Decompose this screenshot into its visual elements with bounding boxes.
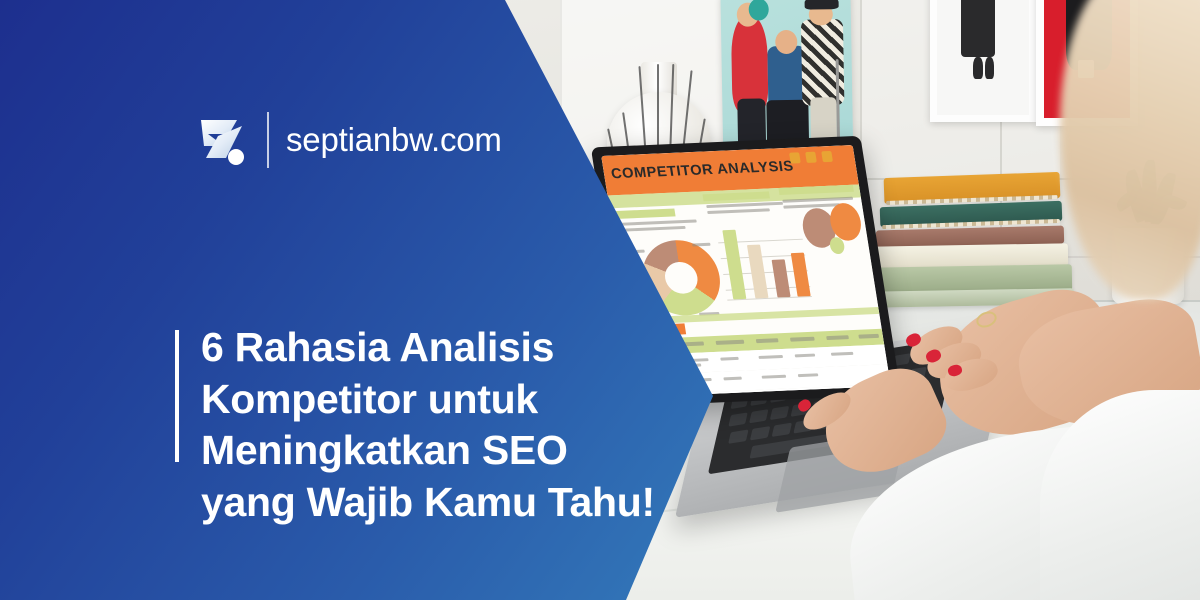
section-label-market-share bbox=[614, 208, 676, 219]
headline-line-4: yang Wajib Kamu Tahu! bbox=[201, 477, 655, 529]
bar-competitor-c bbox=[791, 253, 811, 297]
headline-line-1: 6 Rahasia Analisis bbox=[201, 322, 655, 374]
poster-figure bbox=[961, 0, 995, 57]
accent-bar bbox=[175, 330, 179, 462]
wall-poster-white bbox=[930, 0, 1036, 122]
bar-competitor-b bbox=[772, 259, 791, 297]
headline-block: 6 Rahasia Analisis Kompetitor untuk Meni… bbox=[175, 322, 655, 529]
thumbnail-banner: COMPETITOR ANALYSIS bbox=[0, 0, 1200, 600]
headline-line-2: Kompetitor untuk bbox=[201, 374, 655, 426]
poster-figure-legs bbox=[973, 57, 983, 79]
header-decor bbox=[805, 152, 817, 163]
headline-line-3: Meningkatkan SEO bbox=[201, 425, 655, 477]
poster-figure-legs bbox=[985, 57, 994, 79]
headline-text: 6 Rahasia Analisis Kompetitor untuk Meni… bbox=[201, 322, 655, 529]
brand-divider bbox=[267, 112, 269, 168]
brand-name: septianbw.com bbox=[286, 121, 502, 159]
z-logo-icon bbox=[196, 112, 250, 168]
header-decor bbox=[789, 152, 801, 163]
header-decor bbox=[821, 151, 833, 162]
poster-figure-hat bbox=[804, 0, 838, 10]
brand-lockup[interactable]: septianbw.com bbox=[196, 112, 502, 168]
